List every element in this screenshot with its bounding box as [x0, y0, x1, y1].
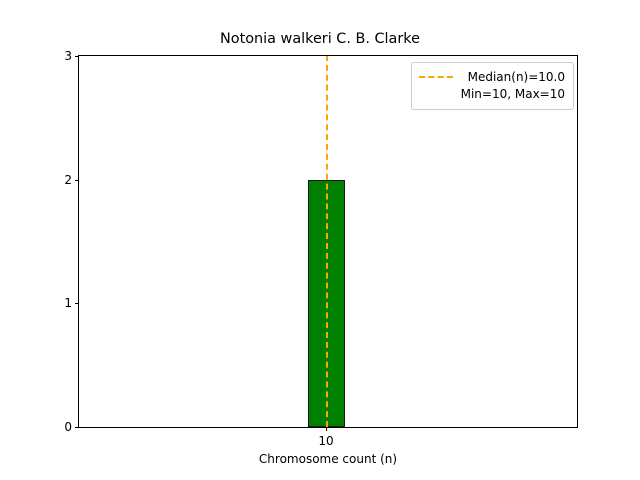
- ytick-label-2: 2: [64, 173, 72, 187]
- plot-inner: [79, 56, 577, 427]
- chart-figure: Notonia walkeri C. B. Clarke 3 2 1 0 10 …: [0, 0, 640, 480]
- x-axis-label: Chromosome count (n): [78, 452, 578, 466]
- plot-area: 3 2 1 0 10 Median(n)=10.0 Min=10, Max=10: [78, 55, 578, 428]
- ytick-label-1: 1: [64, 296, 72, 310]
- median-line: [326, 56, 328, 427]
- legend: Median(n)=10.0 Min=10, Max=10: [411, 62, 574, 110]
- legend-label-median: Median(n)=10.0: [468, 70, 565, 84]
- xtick-mark-10: [326, 427, 327, 431]
- page-title: Notonia walkeri C. B. Clarke: [0, 30, 640, 48]
- legend-dash-icon: [419, 76, 453, 78]
- ytick-label-3: 3: [64, 49, 72, 63]
- xtick-label-10: 10: [318, 434, 333, 448]
- ytick-mark-0: [75, 427, 79, 428]
- ytick-label-0: 0: [64, 420, 72, 434]
- legend-labels: Median(n)=10.0 Min=10, Max=10: [461, 69, 565, 103]
- legend-label-range: Min=10, Max=10: [461, 87, 565, 101]
